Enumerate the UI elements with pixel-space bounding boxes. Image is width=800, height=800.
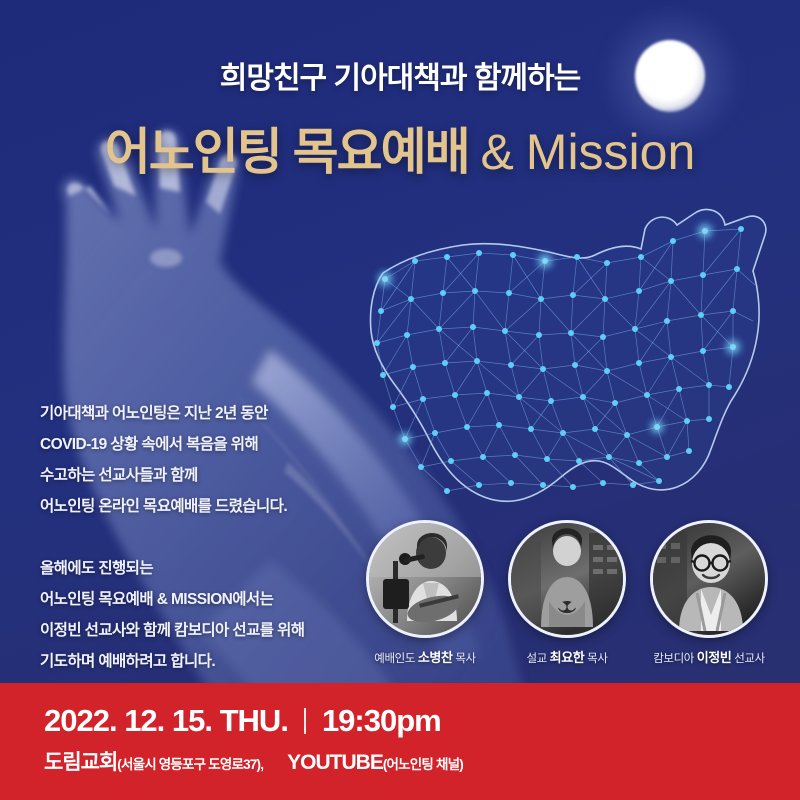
speaker-caption: 설교 최요한 목사 — [507, 647, 627, 666]
speaker-caption: 예배인도 소병찬 목사 — [365, 647, 485, 666]
event-date: 2022. 12. 15. THU. — [44, 703, 288, 739]
copy-line: 어노인팅 온라인 목요예배를 드렸습니다. — [40, 491, 370, 522]
copy-line: 기아대책과 어노인팅은 지난 2년 동안 — [40, 398, 370, 429]
event-datetime: 2022. 12. 15. THU. 19:30pm — [44, 703, 441, 739]
body-copy: 기아대책과 어노인팅은 지난 2년 동안 COVID-19 상황 속에서 복음을… — [40, 398, 370, 677]
avatar — [650, 520, 768, 638]
poster-title: 어노인팅 목요예배 & Mission — [0, 112, 800, 184]
speaker-name: 최요한 — [550, 650, 585, 665]
platform-name: YOUTUBE — [287, 751, 383, 775]
speaker-role: 예배인도 — [374, 653, 415, 665]
speaker-title: 목사 — [455, 653, 475, 665]
speaker-role: 캄보디아 — [653, 653, 694, 665]
platform-channel: (어노인팅 채널) — [383, 753, 463, 773]
speaker-title: 선교사 — [734, 653, 765, 665]
title-ampersand: & — [481, 124, 514, 180]
datetime-separator — [304, 708, 306, 734]
venue-name: 도림교회 — [44, 746, 117, 776]
paragraph-gap — [40, 522, 370, 553]
copy-line: 이정빈 선교사와 함께 캄보디아 선교를 위해 — [40, 615, 370, 646]
speaker-name: 이정빈 — [697, 650, 732, 665]
poster-subtitle: 희망친구 기아대책과 함께하는 — [0, 53, 800, 97]
speaker-title: 목사 — [587, 653, 607, 665]
speaker-role: 설교 — [526, 653, 546, 665]
event-poster: 희망친구 기아대책과 함께하는 어노인팅 목요예배 & Mission 기아대책… — [0, 0, 800, 800]
speaker-name: 소병찬 — [418, 650, 453, 665]
copy-line: 수고하는 선교사들과 함께 — [40, 460, 370, 491]
mission-map-network — [355, 195, 800, 555]
speaker-card: 예배인도 소병찬 목사 — [365, 520, 485, 666]
event-time: 19:30pm — [322, 703, 441, 739]
venue-and-platform: 도림교회 (서울시 영등포구 도영로37), YOUTUBE (어노인팅 채널) — [44, 746, 463, 776]
title-mission: Mission — [526, 124, 695, 180]
copy-line: 어노인팅 목요예배 & MISSION에서는 — [40, 584, 370, 615]
copy-line: COVID-19 상황 속에서 복음을 위해 — [40, 429, 370, 460]
copy-line: 올해에도 진행되는 — [40, 553, 370, 584]
avatar — [366, 520, 484, 638]
copy-line: 기도하며 예배하려고 합니다. — [40, 646, 370, 677]
speaker-caption: 캄보디아 이정빈 선교사 — [649, 647, 769, 666]
speaker-list: 예배인도 소병찬 목사 — [357, 520, 787, 670]
footer-bar: 2022. 12. 15. THU. 19:30pm 도림교회 (서울시 영등포… — [0, 683, 800, 800]
title-main: 어노인팅 목요예배 — [105, 124, 469, 180]
venue-address: (서울시 영등포구 도영로37), — [117, 753, 263, 773]
speaker-card: 설교 최요한 목사 — [507, 520, 627, 666]
speaker-card: 캄보디아 이정빈 선교사 — [649, 520, 769, 666]
avatar — [508, 520, 626, 638]
